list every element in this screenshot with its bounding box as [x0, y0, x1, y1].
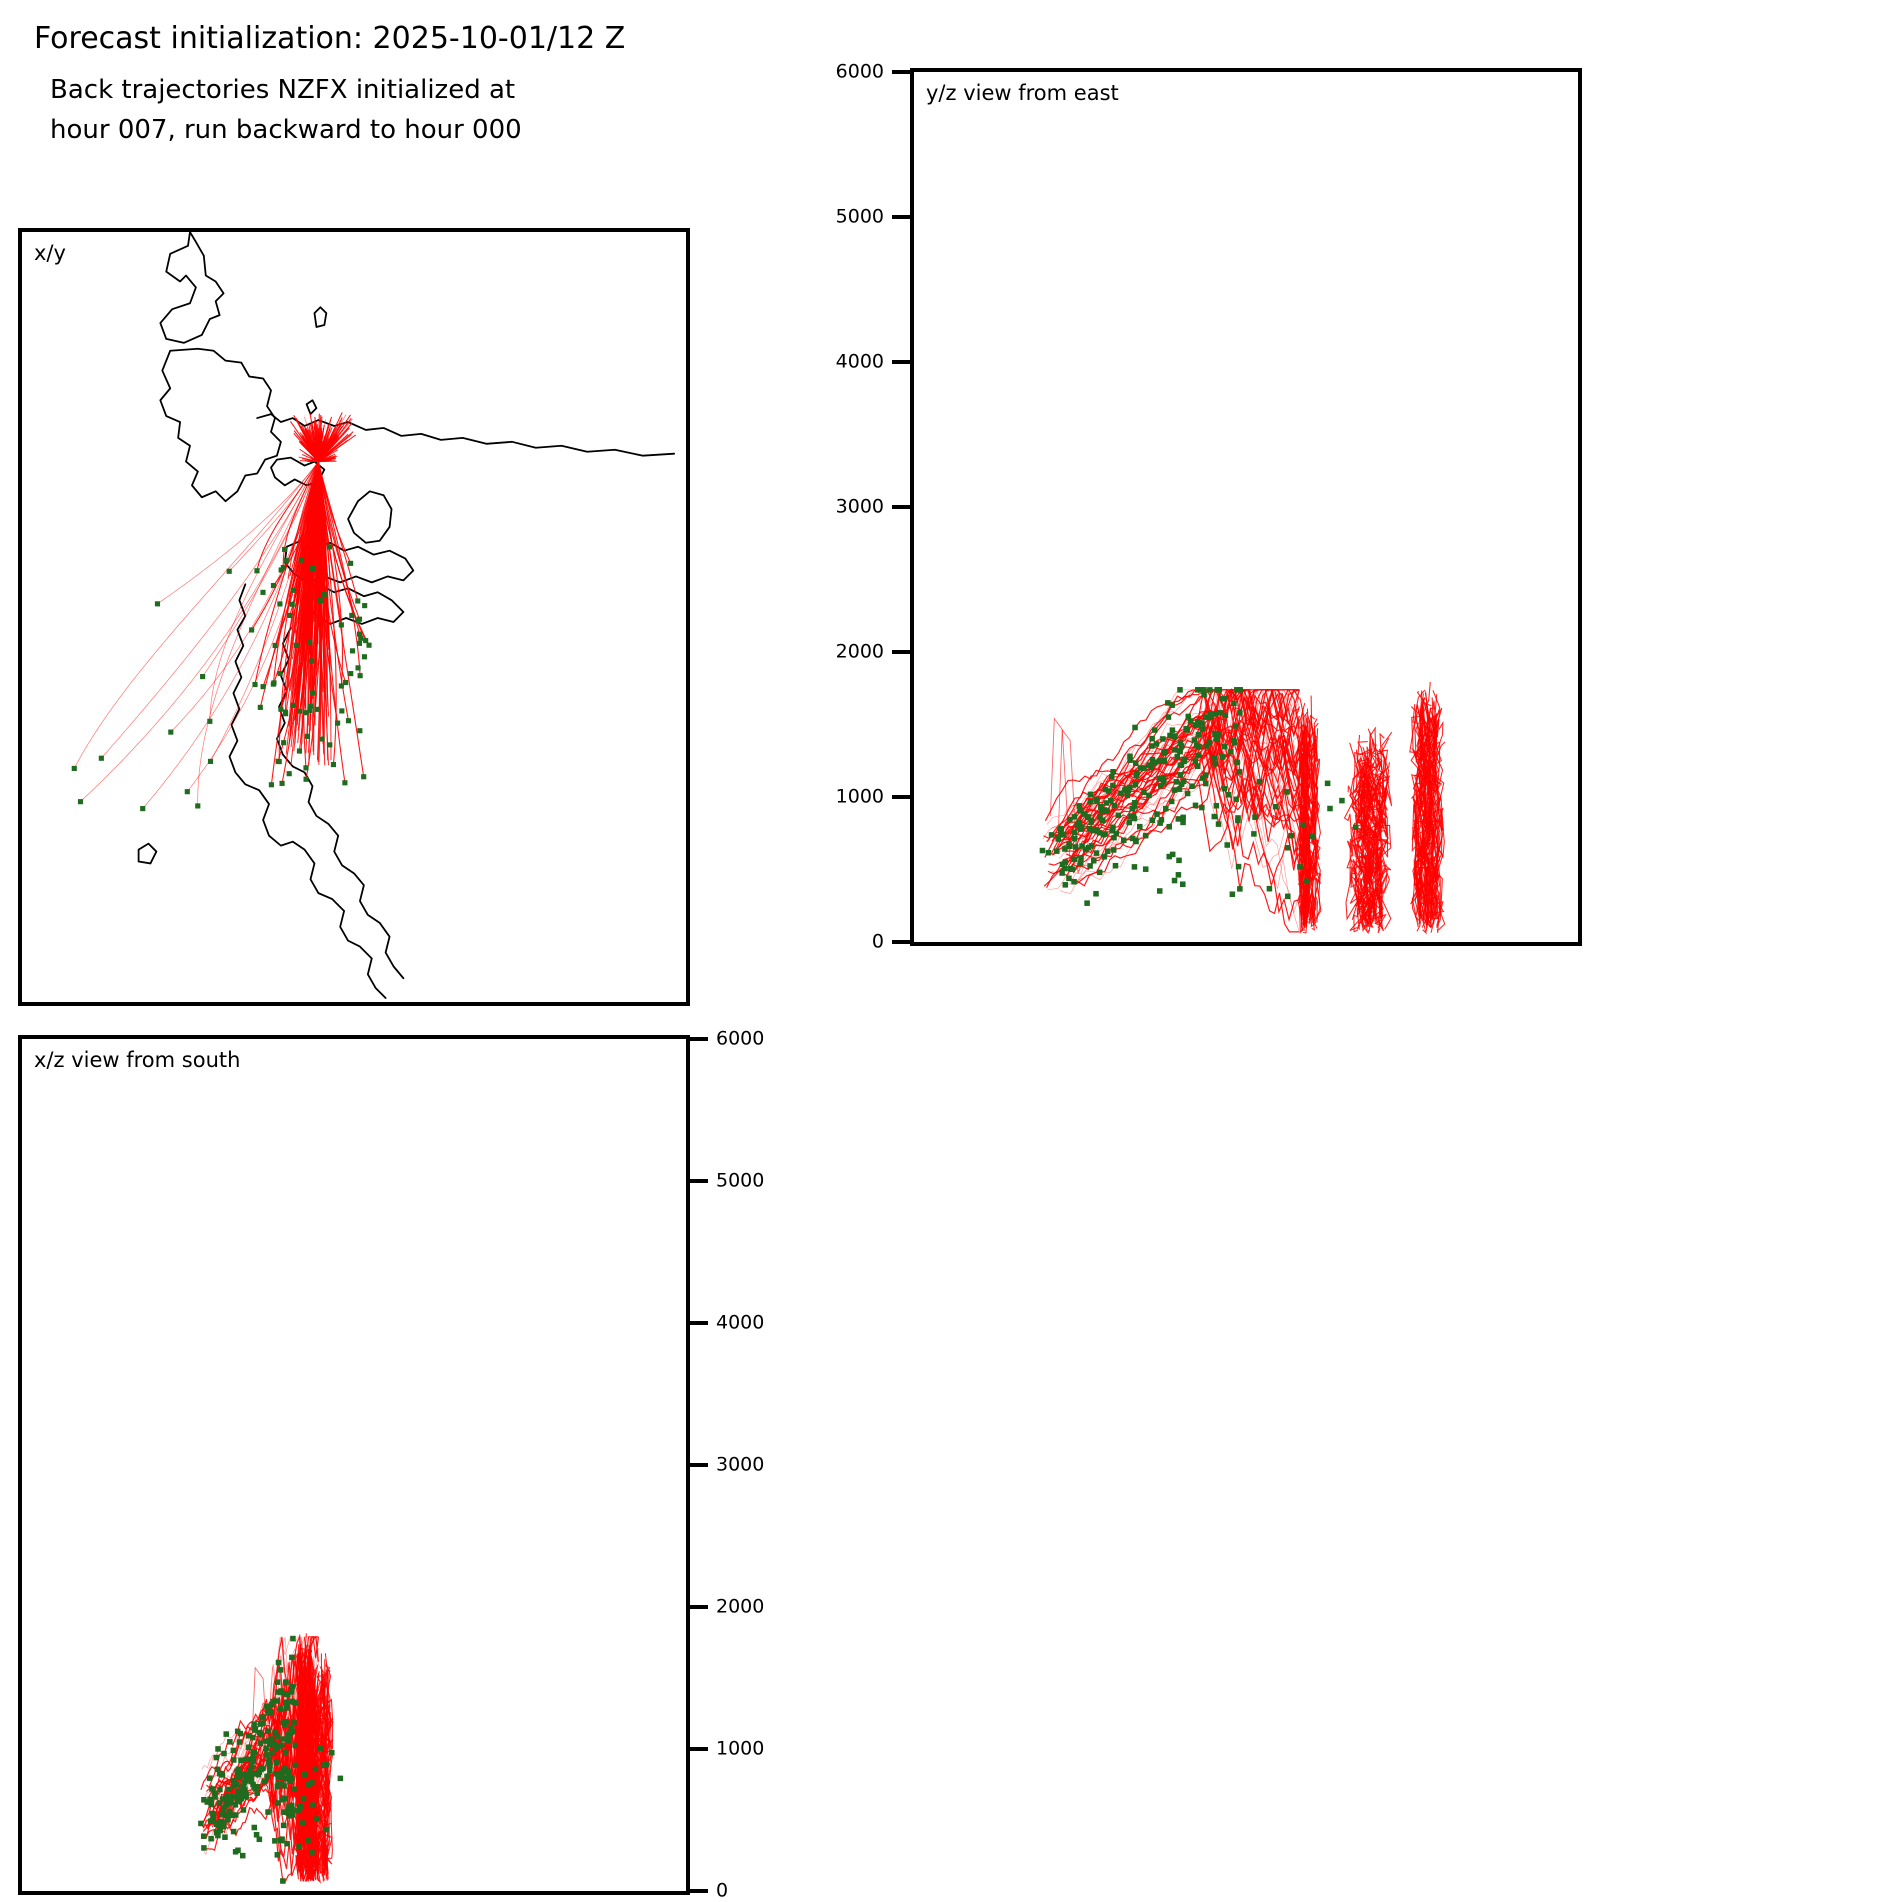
axis-tick-label: 1000: [836, 788, 884, 807]
page-subtitle: Back trajectories NZFX initialized at ho…: [50, 70, 650, 150]
axis-tick: [686, 1179, 708, 1183]
axis-tick: [686, 1889, 708, 1893]
panel-xy-map[interactable]: x/y: [18, 228, 690, 1006]
axis-tick: [892, 650, 914, 654]
axis-tick: [686, 1037, 708, 1041]
axis-tick: [686, 1463, 708, 1467]
xy-plot-canvas: [22, 232, 686, 1002]
axis-tick: [892, 215, 914, 219]
subtitle-line-2: hour 007, run backward to hour 000: [50, 110, 650, 150]
page-title: Forecast initialization: 2025-10-01/12 Z: [34, 20, 854, 58]
axis-tick: [892, 795, 914, 799]
axis-tick-label: 5000: [716, 1172, 764, 1191]
axis-tick-label: 2000: [836, 643, 884, 662]
panel-yz-profile[interactable]: y/z view from east 010002000300040005000…: [910, 68, 1582, 946]
axis-tick-label: 3000: [836, 498, 884, 517]
axis-tick-label: 0: [872, 933, 884, 952]
xz-plot-canvas: [22, 1039, 686, 1891]
title-block: Forecast initialization: 2025-10-01/12 Z…: [34, 20, 854, 150]
panel-xz-profile[interactable]: x/z view from south 01000200030004000500…: [18, 1035, 690, 1895]
axis-tick: [892, 940, 914, 944]
axis-tick: [892, 505, 914, 509]
panel-xz-label: x/z view from south: [34, 1047, 240, 1073]
yz-plot-canvas: [914, 72, 1578, 942]
axis-tick-label: 1000: [716, 1740, 764, 1759]
panel-xy-label: x/y: [34, 240, 66, 266]
axis-tick-label: 4000: [836, 353, 884, 372]
axis-tick-label: 5000: [836, 208, 884, 227]
subtitle-line-1: Back trajectories NZFX initialized at: [50, 70, 650, 110]
axis-tick: [892, 360, 914, 364]
axis-tick: [686, 1321, 708, 1325]
axis-tick: [686, 1605, 708, 1609]
axis-tick: [892, 70, 914, 74]
panel-yz-label: y/z view from east: [926, 80, 1119, 106]
axis-tick-label: 6000: [716, 1030, 764, 1049]
axis-tick: [686, 1747, 708, 1751]
axis-tick-label: 0: [716, 1882, 728, 1901]
axis-tick-label: 4000: [716, 1314, 764, 1333]
axis-tick-label: 2000: [716, 1598, 764, 1617]
axis-tick-label: 3000: [716, 1456, 764, 1475]
